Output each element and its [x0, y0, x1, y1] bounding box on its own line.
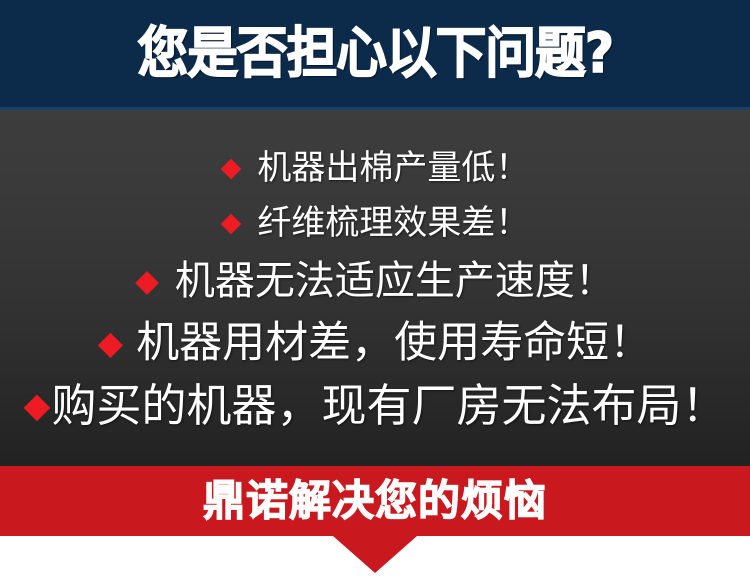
list-item-label: 纤维梳理效果差！	[257, 204, 529, 242]
list-item: ◆ 机器用材差，使用寿命短！	[98, 319, 652, 367]
list-item-label: 机器用材差，使用寿命短！	[136, 319, 652, 367]
page-title: 您是否担心以下问题?	[137, 26, 613, 81]
list-item-label: 购买的机器，现有厂房无法布局！	[51, 381, 726, 431]
solution-banner: 鼎诺解决您的烦恼	[0, 466, 750, 536]
diamond-bullet-icon: ◆	[221, 154, 242, 181]
list-item-label: 机器出棉产量低！	[257, 149, 529, 187]
diamond-bullet-icon: ◆	[24, 389, 51, 424]
list-item: ◆ 纤维梳理效果差！	[221, 204, 530, 242]
list-item-label: 机器无法适应生产速度！	[175, 259, 615, 304]
promo-banner: 您是否担心以下问题? ◆ 机器出棉产量低！ ◆ 纤维梳理效果差！ ◆ 机器无法适…	[0, 0, 750, 588]
list-item: ◆ 机器出棉产量低！	[221, 149, 530, 187]
problem-list: ◆ 机器出棉产量低！ ◆ 纤维梳理效果差！ ◆ 机器无法适应生产速度！ ◆ 机器…	[0, 110, 750, 466]
list-item: ◆ 机器无法适应生产速度！	[135, 259, 615, 304]
diamond-bullet-icon: ◆	[221, 209, 242, 236]
list-item: ◆ 购买的机器，现有厂房无法布局！	[24, 381, 727, 431]
solution-banner-label: 鼎诺解决您的烦恼	[203, 480, 547, 522]
down-arrow-icon	[333, 536, 417, 573]
diamond-bullet-icon: ◆	[98, 326, 123, 359]
banner-header: 您是否担心以下问题?	[0, 0, 750, 110]
diamond-bullet-icon: ◆	[135, 266, 159, 297]
